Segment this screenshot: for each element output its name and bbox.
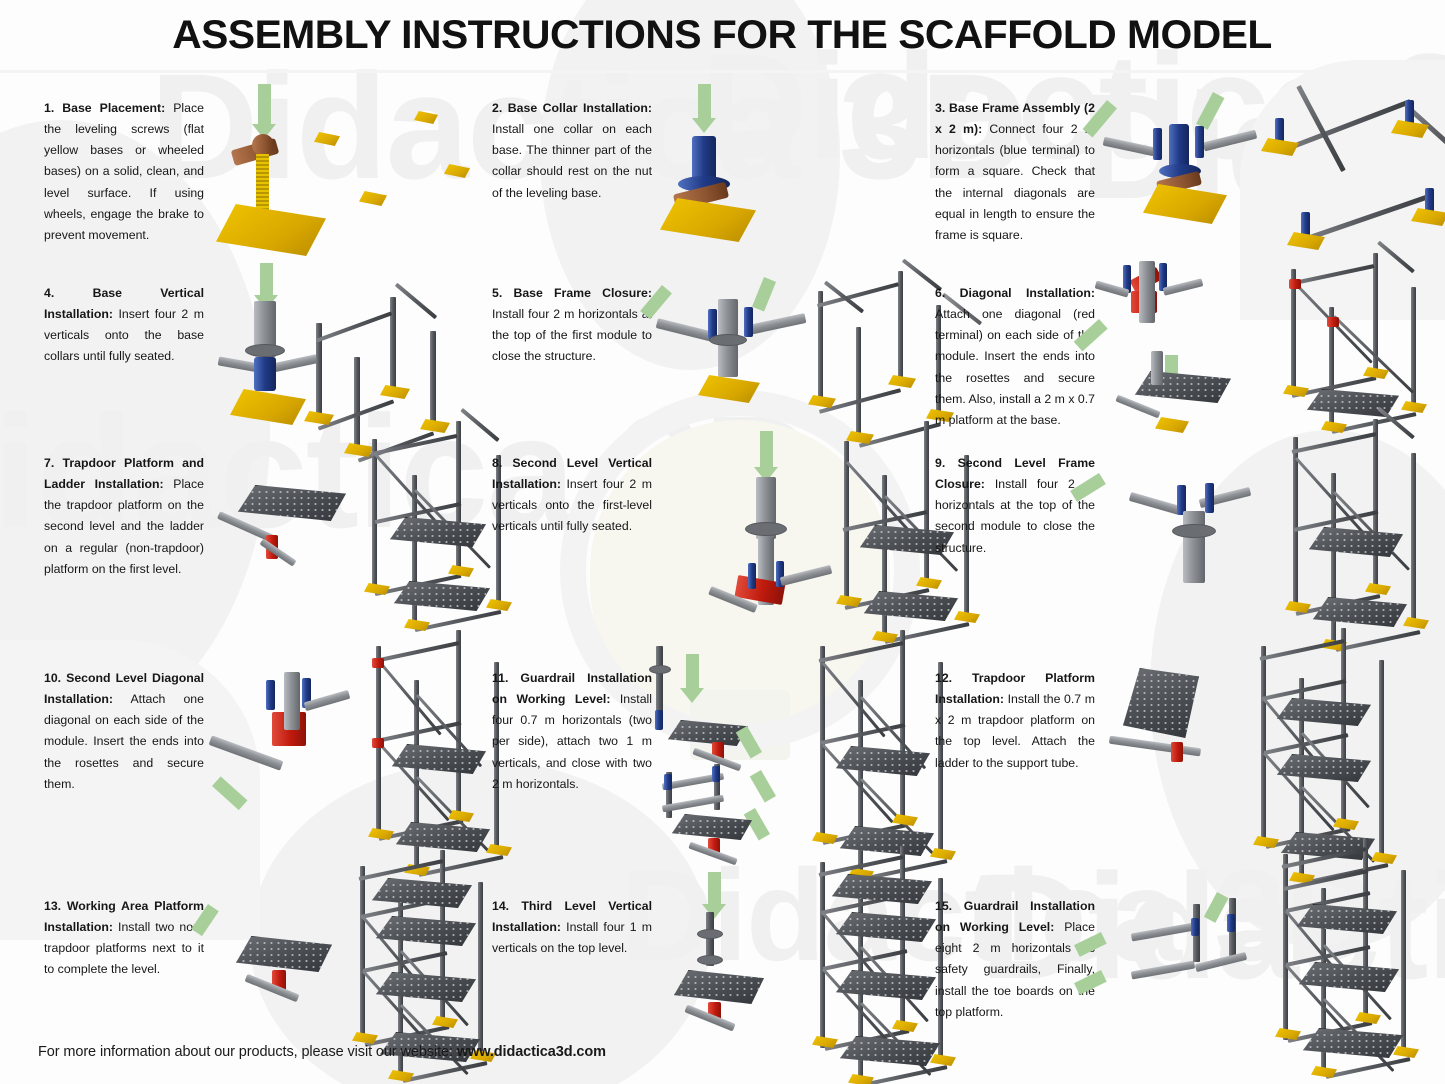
yellow-base-plate (812, 832, 838, 844)
blue-terminal (1191, 918, 1199, 936)
frame-horizontal (1326, 1057, 1411, 1079)
red-diagonal-terminal (372, 738, 384, 748)
platform-deck (1297, 904, 1397, 934)
step-number-9: 9. (935, 456, 945, 470)
step-number-10: 10. (44, 671, 61, 685)
vertical-standard (430, 331, 436, 423)
frame-horizontal (1292, 432, 1377, 454)
vertical-standard (372, 439, 377, 587)
vertical-standard (1401, 870, 1406, 1056)
blue-terminal (1195, 126, 1204, 158)
step-text-13: 13. Working Area Platform Installation: … (44, 874, 204, 981)
step-art-1 (204, 76, 482, 261)
blue-terminal (1275, 118, 1284, 142)
red-diagonal-terminal (1171, 742, 1183, 762)
step-number-2: 2. (492, 101, 502, 115)
yellow-base-plate (872, 631, 898, 643)
yellow-base-plate-small (314, 132, 340, 146)
step-text-1: 1. Base Placement: Place the leveling sc… (44, 76, 204, 246)
step-body-3: Connect four 2 m horizontals (blue termi… (935, 122, 1095, 242)
step-heading-1: Base Placement: (62, 101, 165, 115)
support-tube (1109, 736, 1201, 757)
yellow-base-plate (698, 375, 760, 403)
vertical-standard (1341, 628, 1346, 828)
guardrail-horizontal (1131, 923, 1195, 942)
yellow-base-plate (1333, 818, 1359, 830)
blue-terminal (1227, 914, 1235, 932)
step-number-8: 8. (492, 456, 502, 470)
step-card-10: 10. Second Level Diagonal Installation: … (0, 646, 482, 874)
yellow-base-plate (1253, 836, 1279, 848)
yellow-base-plate (388, 1070, 414, 1082)
rosette-ring (1173, 525, 1215, 537)
yellow-base-plate (1371, 852, 1397, 864)
rosette-ring (710, 335, 746, 345)
diagonal-brace (822, 662, 886, 737)
blue-terminal (1205, 483, 1214, 513)
vertical-tube (1183, 511, 1205, 583)
step-card-8: 8. Second Level Vertical Installation: I… (482, 431, 930, 646)
step-number-3: 3. (935, 101, 945, 115)
platform-deck (1299, 962, 1399, 992)
blue-terminal (748, 563, 756, 589)
horizontal-tube (656, 318, 715, 342)
platform-deck (376, 972, 476, 1002)
step-number-7: 7. (44, 456, 54, 470)
vertical-standard (1379, 660, 1384, 860)
leveling-nut-cap (252, 134, 274, 156)
page-title: ASSEMBLY INSTRUCTIONS FOR THE SCAFFOLD M… (173, 13, 1273, 58)
page-header: ASSEMBLY INSTRUCTIONS FOR THE SCAFFOLD M… (0, 0, 1445, 70)
step-heading-2: Base Collar Installation: (508, 101, 652, 115)
platform-deck (390, 517, 486, 547)
trapdoor-platform-deck (1123, 668, 1199, 738)
step-number-4: 4. (44, 286, 54, 300)
platform-deck (1277, 754, 1371, 782)
yellow-base-plate (352, 1032, 378, 1044)
blue-terminal (1425, 188, 1434, 212)
step-card-11: 11. Guardrail Installation on Working Le… (482, 646, 930, 874)
step-text-8: 8. Second Level Vertical Installation: I… (492, 431, 652, 538)
platform-deck (394, 581, 490, 611)
platform-deck (836, 912, 936, 942)
header-divider (0, 70, 1445, 73)
yellow-base-plate (368, 828, 394, 840)
vertical-standard (1261, 646, 1266, 846)
platform-deck (1135, 371, 1231, 403)
step-card-2: 2. Base Collar Installation: Install one… (482, 76, 930, 261)
frame-horizontal (316, 311, 393, 342)
step-art-3 (1095, 76, 1445, 261)
platform-deck (672, 814, 752, 840)
yellow-base-plate (1365, 583, 1391, 595)
step-card-9: 9. Second Level Frame Closure: Install f… (930, 431, 1445, 646)
horizontal-tube (780, 565, 833, 586)
platform-deck (236, 936, 332, 972)
horizontal-tube (1203, 130, 1258, 152)
yellow-base-plate (1143, 184, 1227, 224)
step-heading-5: Base Frame Closure: (513, 286, 652, 300)
yellow-base-plate (1275, 1028, 1301, 1040)
step-text-2: 2. Base Collar Installation: Install one… (492, 76, 652, 204)
step-art-14 (652, 874, 930, 1039)
frame-horizontal (863, 1065, 948, 1084)
rosette-ring (698, 956, 722, 964)
step-art-2 (652, 76, 930, 261)
blue-terminal (664, 774, 672, 790)
step-art-4 (204, 261, 482, 431)
diagonal-brace (378, 660, 442, 735)
vertical-standard (1283, 854, 1288, 1040)
step-number-13: 13. (44, 899, 61, 913)
red-diagonal-terminal (372, 658, 384, 668)
instruction-sheet-page: Didactica 3D Didactica 3D Didactica 3D D… (0, 0, 1445, 1084)
yellow-base-plate (1311, 1066, 1337, 1078)
blue-terminal (744, 307, 753, 337)
frame-horizontal (1262, 679, 1347, 701)
step-art-10 (204, 646, 482, 874)
platform-deck (840, 826, 934, 856)
steps-grid: 1. Base Placement: Place the leveling sc… (0, 76, 1445, 1041)
yellow-base-plate-small (359, 191, 387, 206)
step-body-1: Place the leveling screws (flat yellow b… (44, 101, 204, 242)
yellow-base-plate (1411, 208, 1445, 226)
platform-deck (836, 970, 936, 1000)
step-body-6: Attach one diagonal (red terminal) on ea… (935, 307, 1095, 427)
step-text-14: 14. Third Level Vertical Installation: I… (492, 874, 652, 959)
vertical-standard (456, 421, 461, 569)
yellow-base-plate (380, 385, 410, 399)
yellow-base-plate (848, 1074, 874, 1084)
horizontal-tube (748, 313, 807, 335)
platform-deck (1303, 1028, 1403, 1058)
guardrail-horizontal (1195, 952, 1247, 972)
platform-deck (376, 916, 476, 946)
platform-deck (372, 878, 472, 908)
yellow-base-plate-small (444, 164, 470, 178)
step-text-4: 4. Base Vertical Installation: Insert fo… (44, 261, 204, 368)
step-text-7: 7. Trapdoor Platform and Ladder Installa… (44, 431, 204, 580)
yellow-base-plate (1261, 138, 1299, 156)
vertical-standard (656, 646, 663, 714)
yellow-base-plate (1401, 401, 1427, 413)
footer-lead-text: For more information about our products,… (38, 1044, 457, 1060)
platform-deck (396, 822, 490, 852)
yellow-base-plate (660, 198, 756, 242)
step-art-15 (1095, 874, 1445, 1039)
yellow-base-plate (812, 1036, 838, 1048)
vertical-standard (360, 866, 365, 1042)
blue-terminal (1405, 100, 1414, 124)
yellow-base-plate (432, 1016, 458, 1028)
yellow-base-plate (1285, 601, 1311, 613)
yellow-base-plate (1393, 1046, 1419, 1058)
vertical-tube (284, 672, 300, 730)
step-number-12: 12. (935, 671, 952, 685)
vertical-standard (820, 862, 825, 1048)
vertical-standard (1373, 419, 1378, 591)
trapdoor-platform-deck (238, 485, 346, 521)
step-number-1: 1. (44, 101, 54, 115)
yellow-base-plate-small (414, 111, 438, 124)
frame-horizontal (395, 283, 437, 319)
step-art-12 (1095, 646, 1445, 874)
yellow-base-plate (1283, 385, 1309, 397)
vertical-standard (898, 271, 903, 379)
support-tube (1115, 395, 1160, 419)
platform-deck (674, 970, 764, 1004)
blue-terminal (655, 710, 663, 730)
vertical-tube (1139, 261, 1155, 323)
frame-horizontal (1290, 264, 1375, 286)
frame-horizontal (1279, 99, 1411, 154)
blue-terminal (266, 680, 275, 710)
rosette-ring (698, 930, 722, 938)
red-diagonal-terminal (1327, 317, 1339, 327)
horizontal-tube (270, 354, 319, 373)
step-text-9: 9. Second Level Frame Closure: Install f… (935, 431, 1095, 559)
platform-deck (392, 744, 486, 774)
frame-horizontal (403, 1061, 488, 1083)
step-body-2: Install one collar on each base. The thi… (492, 122, 652, 199)
leveling-screw-thread (256, 154, 269, 216)
step-art-9 (1095, 431, 1445, 646)
yellow-base-plate (364, 583, 390, 595)
step-body-10: Attach one diagonal on each side of the … (44, 692, 204, 791)
step-text-5: 5. Base Frame Closure: Install four 2 m … (492, 261, 652, 368)
blue-terminal (1301, 212, 1310, 236)
blue-terminal (712, 766, 720, 782)
vertical-standard (856, 327, 861, 435)
step-text-10: 10. Second Level Diagonal Installation: … (44, 646, 204, 795)
step-card-6: 6. Diagonal Installation: Attach one dia… (930, 261, 1445, 431)
yellow-base-plate (836, 595, 862, 607)
vertical-standard (924, 421, 929, 581)
base-collar-body (254, 357, 276, 391)
step-card-3: 3. Base Frame Assembly (2 x 2 m): Connec… (930, 76, 1445, 261)
blue-terminal (708, 309, 717, 339)
yellow-base-plate (808, 395, 836, 408)
footer-website-link[interactable]: www.didactica3d.com (457, 1044, 606, 1060)
step-card-1: 1. Base Placement: Place the leveling sc… (0, 76, 482, 261)
frame-horizontal (371, 434, 458, 456)
yellow-base-plate (1403, 617, 1429, 629)
step-art-7 (204, 431, 482, 646)
step-heading-6: Diagonal Installation: (960, 286, 1095, 300)
step-body-7: Place the trapdoor platform on the secon… (44, 477, 204, 576)
yellow-base-plate (404, 619, 430, 631)
platform-deck (1277, 698, 1371, 726)
step-art-5 (652, 261, 930, 431)
step-number-14: 14. (492, 899, 509, 913)
yellow-base-plate (1355, 1012, 1381, 1024)
step-text-11: 11. Guardrail Installation on Working Le… (492, 646, 652, 795)
rosette-ring (746, 523, 786, 535)
yellow-base-plate (930, 1054, 956, 1066)
platform-deck (836, 746, 930, 776)
step-art-11 (652, 646, 930, 874)
step-art-8 (652, 431, 930, 646)
rosette-ring (650, 666, 670, 673)
horizontal-tube (1129, 492, 1181, 515)
step-body-15: Place eight 2 m horizontals as safety gu… (935, 920, 1095, 1019)
step-card-5: 5. Base Frame Closure: Install four 2 m … (482, 261, 930, 431)
platform-deck (840, 1036, 940, 1066)
yellow-base-plate (892, 1020, 918, 1032)
horizontal-tube (1103, 137, 1156, 157)
step-number-15: 15. (935, 899, 952, 913)
step-text-12: 12. Trapdoor Platform Installation: Inst… (935, 646, 1095, 774)
step-art-6 (1095, 261, 1445, 431)
footer-note: For more information about our products,… (38, 1044, 606, 1060)
blue-terminal (1153, 128, 1162, 160)
horizontal-tube (1163, 278, 1204, 295)
yellow-base-plate (230, 389, 306, 425)
vertical-tube (1151, 351, 1163, 385)
platform-deck (1309, 527, 1403, 557)
step-card-7: 7. Trapdoor Platform and Ladder Installa… (0, 431, 482, 646)
step-number-6: 6. (935, 286, 945, 300)
guardrail-horizontal (1131, 961, 1195, 980)
yellow-base-plate (888, 375, 916, 388)
yellow-base-plate (216, 204, 326, 256)
platform-deck (1313, 597, 1407, 627)
step-text-3: 3. Base Frame Assembly (2 x 2 m): Connec… (935, 76, 1095, 246)
step-card-13: 13. Working Area Platform Installation: … (0, 874, 482, 1039)
platform-deck (832, 874, 932, 904)
step-card-14: 14. Third Level Vertical Installation: I… (482, 874, 930, 1039)
step-number-5: 5. (492, 286, 502, 300)
step-card-4: 4. Base Vertical Installation: Insert fo… (0, 261, 482, 431)
red-diagonal-terminal (1289, 279, 1301, 289)
step-text-6: 6. Diagonal Installation: Attach one dia… (935, 261, 1095, 431)
step-number-11: 11. (492, 671, 508, 685)
step-card-15: 15. Guardrail Installation on Working Le… (930, 874, 1445, 1039)
yellow-base-plate (304, 411, 334, 425)
step-body-11: Install four 0.7 m horizontals (two per … (492, 692, 652, 791)
step-body-5: Install four 2 m horizontals at the top … (492, 307, 652, 363)
vertical-standard (1411, 287, 1416, 405)
vertical-standard (1411, 453, 1416, 625)
step-art-13 (204, 874, 482, 1039)
step-text-15: 15. Guardrail Installation on Working Le… (935, 874, 1095, 1023)
rosette-ring (246, 345, 284, 356)
